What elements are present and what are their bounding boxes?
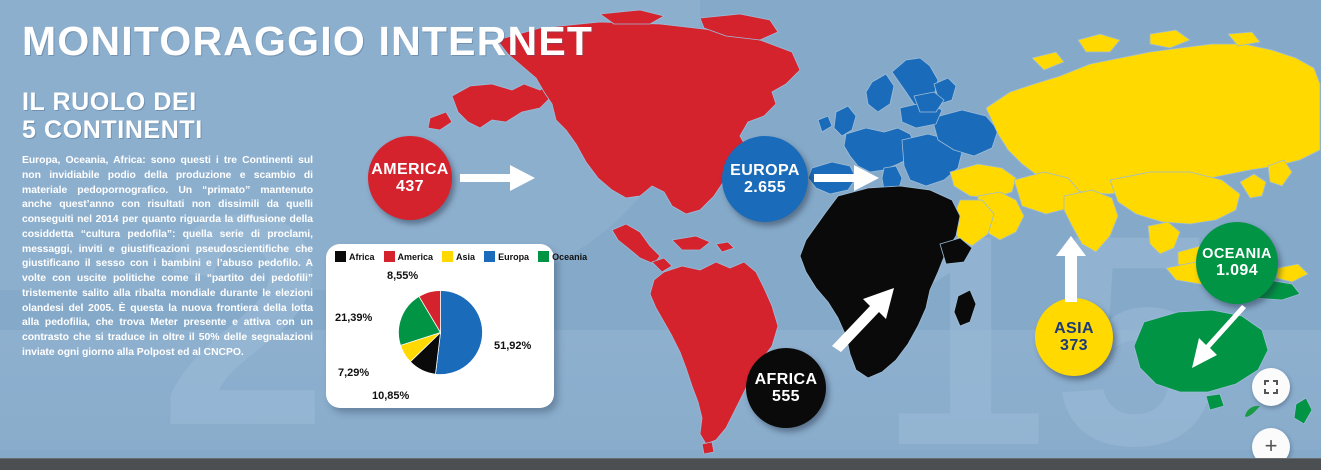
plus-icon: +	[1265, 435, 1278, 457]
legend-item-america[interactable]: America	[384, 251, 434, 262]
arrow-asia-icon	[1053, 234, 1089, 304]
browser-chrome-bar	[0, 458, 1321, 470]
legend-swatch-america	[384, 251, 395, 262]
badge-oceania-name: OCEANIA	[1202, 247, 1272, 263]
badge-asia-name: ASIA	[1054, 320, 1094, 337]
legend-item-africa[interactable]: Africa	[335, 251, 375, 262]
legend-item-europa[interactable]: Europa	[484, 251, 529, 262]
pie-chart-plot: 51,92% 21,39% 8,55% 7,29% 10,85%	[326, 270, 554, 408]
badge-asia-value: 373	[1060, 337, 1088, 354]
map-marker-icon	[1244, 404, 1262, 418]
pie-chart-legend: AfricaAmericaAsiaEuropaOceania	[335, 251, 547, 262]
badge-america[interactable]: AMERICA 437	[368, 136, 452, 220]
legend-label-asia: Asia	[456, 252, 475, 262]
pie-chart-graphic	[388, 280, 493, 385]
pie-label-europa: 51,92%	[494, 340, 531, 352]
legend-swatch-asia	[442, 251, 453, 262]
badge-asia[interactable]: ASIA 373	[1035, 298, 1113, 376]
legend-label-africa: Africa	[349, 252, 375, 262]
page-subtitle: IL RUOLO DEI5 CONTINENTI	[22, 88, 203, 144]
legend-item-asia[interactable]: Asia	[442, 251, 475, 262]
fullscreen-button[interactable]	[1252, 368, 1290, 406]
badge-africa[interactable]: AFRICA 555	[746, 348, 826, 428]
arrow-africa-icon	[826, 284, 900, 354]
arrow-europa-icon	[812, 158, 882, 198]
pie-label-africa: 10,85%	[372, 390, 409, 402]
pie-slice-europa[interactable]	[435, 291, 482, 375]
pie-label-america: 8,55%	[387, 270, 418, 282]
badge-europa-value: 2.655	[744, 179, 786, 196]
legend-label-oceania: Oceania	[552, 252, 587, 262]
badge-america-value: 437	[396, 178, 424, 195]
badge-oceania-value: 1.094	[1216, 262, 1258, 279]
legend-swatch-europa	[484, 251, 495, 262]
fullscreen-icon	[1262, 378, 1280, 396]
arrow-oceania-icon	[1186, 302, 1254, 374]
legend-item-oceania[interactable]: Oceania	[538, 251, 587, 262]
badge-oceania[interactable]: OCEANIA 1.094	[1196, 222, 1278, 304]
arrow-america-icon	[458, 158, 538, 198]
legend-label-europa: Europa	[498, 252, 529, 262]
body-paragraph: Europa, Oceania, Africa: sono questi i t…	[22, 154, 313, 361]
legend-swatch-africa	[335, 251, 346, 262]
pie-chart-card: AfricaAmericaAsiaEuropaOceania 51,92% 21…	[326, 244, 554, 408]
pie-label-asia: 7,29%	[338, 367, 369, 379]
badge-europa[interactable]: EUROPA 2.655	[722, 136, 808, 222]
badge-america-name: AMERICA	[371, 161, 448, 178]
badge-africa-name: AFRICA	[755, 371, 818, 388]
pie-label-oceania: 21,39%	[335, 312, 372, 324]
badge-europa-name: EUROPA	[730, 162, 800, 179]
infographic-canvas: 2 15	[0, 0, 1321, 470]
legend-swatch-oceania	[538, 251, 549, 262]
legend-label-america: America	[398, 252, 434, 262]
page-title: MONITORAGGIO INTERNET	[22, 18, 593, 65]
badge-africa-value: 555	[772, 388, 800, 405]
